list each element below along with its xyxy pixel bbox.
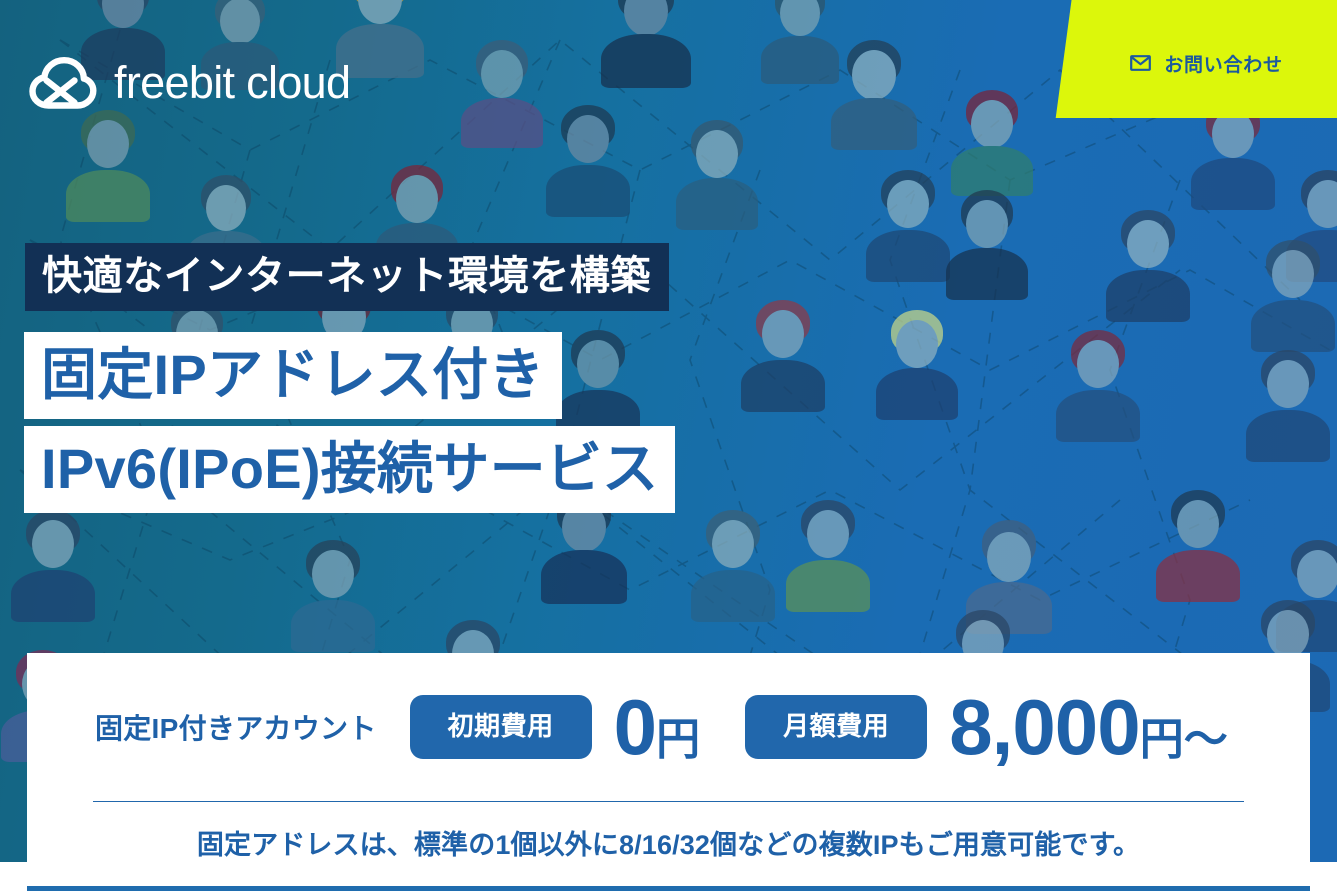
initial-fee-amount: 0 円: [614, 688, 700, 766]
initial-fee-pill[interactable]: 初期費用: [410, 695, 592, 759]
initial-fee-value: 0: [614, 688, 656, 766]
price-card: 固定IP付きアカウント 初期費用 0 円 月額費用 8,000 円〜 固定アドレ…: [27, 653, 1310, 891]
monthly-fee-pill[interactable]: 月額費用: [745, 695, 927, 759]
mail-icon: [1130, 55, 1151, 71]
price-note: 固定アドレスは、標準の1個以外に8/16/32個などの複数IPもご用意可能です。: [27, 802, 1310, 886]
monthly-fee-value: 8,000: [949, 688, 1140, 766]
price-row: 固定IP付きアカウント 初期費用 0 円 月額費用 8,000 円〜: [27, 653, 1310, 801]
hero-kicker: 快適なインターネット環境を構築: [25, 243, 669, 311]
contact-button-label: お問い合わせ: [1164, 50, 1283, 77]
hero-banner: お問い合わせ freebit cloud 快適なインターネット環境を構築 固定I…: [0, 0, 1337, 891]
brand-name: freebit cloud: [114, 60, 350, 105]
initial-fee-unit: 円: [656, 718, 700, 762]
contact-button[interactable]: お問い合わせ: [1054, 0, 1337, 118]
hero-headline-line-1: 固定IPアドレス付き: [24, 332, 562, 419]
brand-logo[interactable]: freebit cloud: [26, 55, 350, 111]
cloud-infinity-logo-icon: [26, 55, 98, 111]
plan-name: 固定IP付きアカウント: [95, 707, 377, 747]
hero-headline-line-2: IPv6(IPoE)接続サービス: [24, 426, 675, 513]
monthly-fee-unit: 円〜: [1140, 718, 1228, 762]
contact-button-content: お問い合わせ: [1130, 50, 1283, 77]
monthly-fee-amount: 8,000 円〜: [949, 688, 1228, 766]
